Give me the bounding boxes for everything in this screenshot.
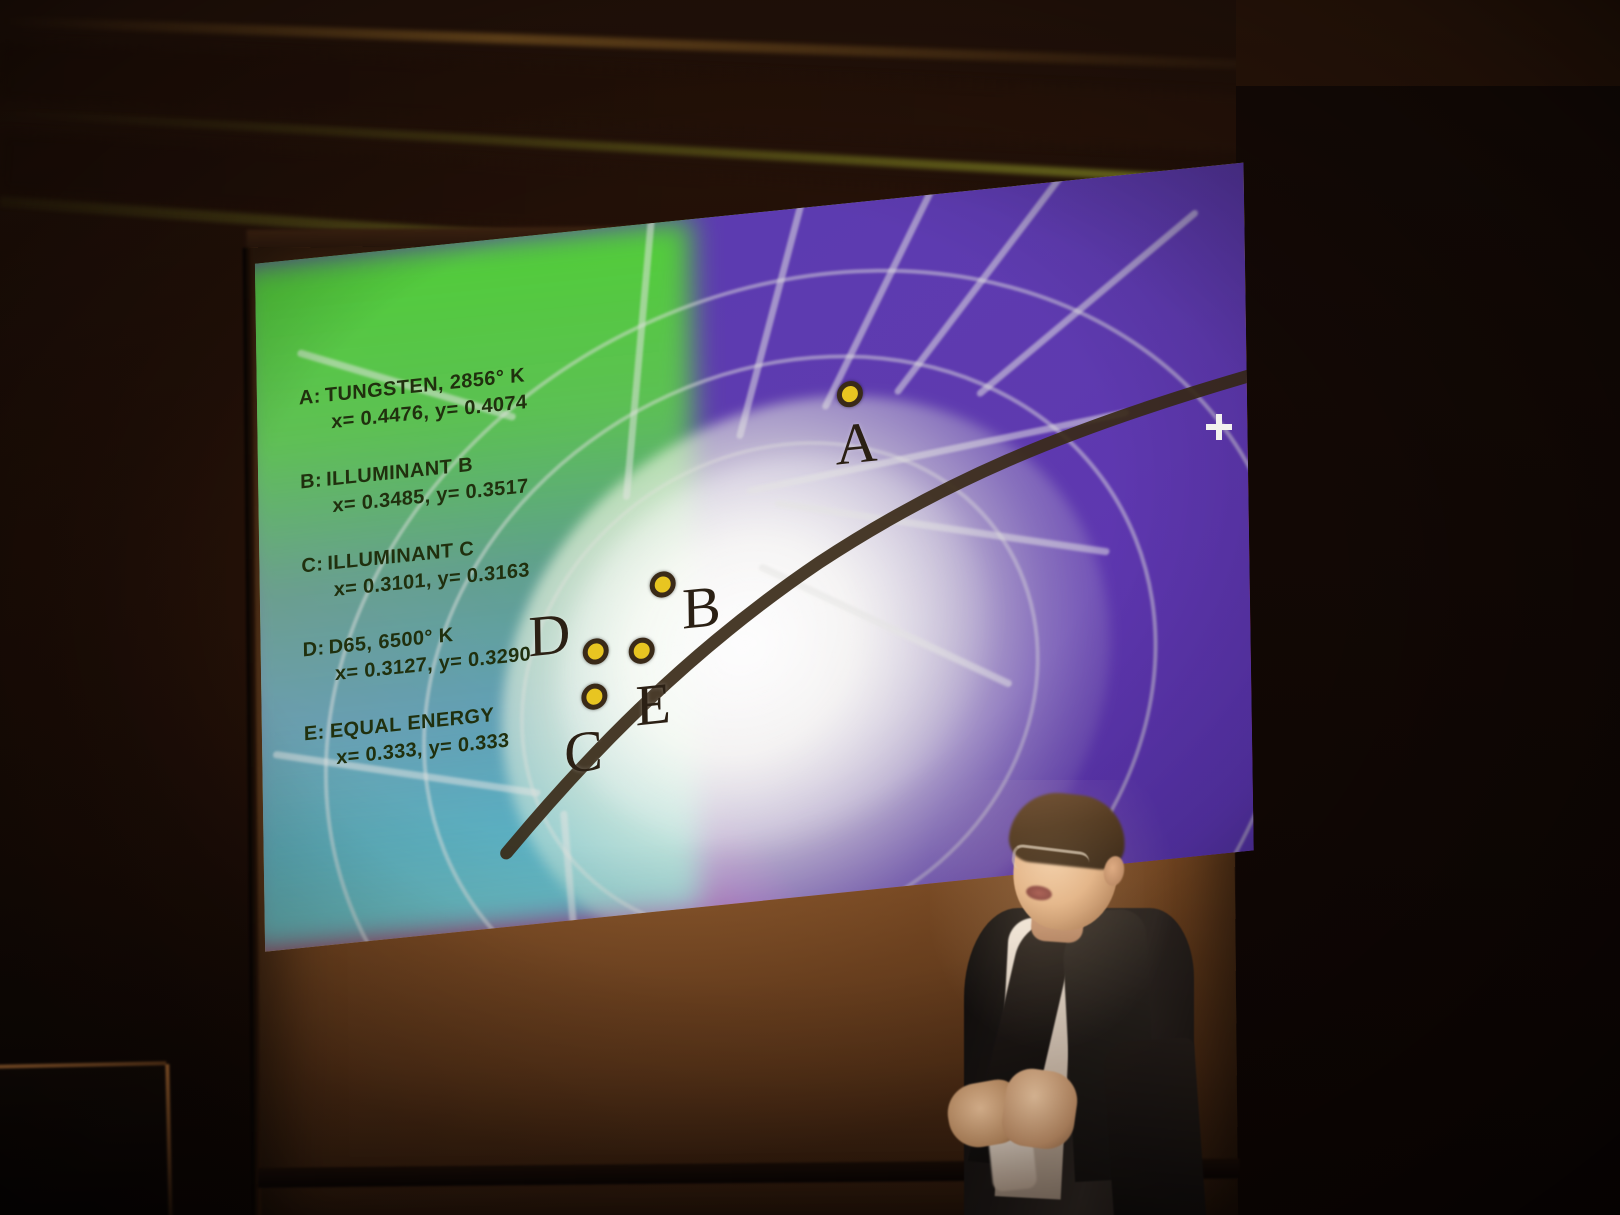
- foreground-monitor-silhouette: [0, 1064, 170, 1215]
- photograph: A B D E C A:TUNGSTEN, 2856° K x= 0.4476,…: [0, 0, 1620, 1215]
- wall-panel-right: [1236, 0, 1620, 1215]
- cursor-vertical-bar: [1216, 414, 1222, 440]
- presenter: [940, 790, 1240, 1215]
- crosshair-cursor-icon[interactable]: [1206, 414, 1232, 440]
- stage-light-wash: [930, 780, 1260, 1215]
